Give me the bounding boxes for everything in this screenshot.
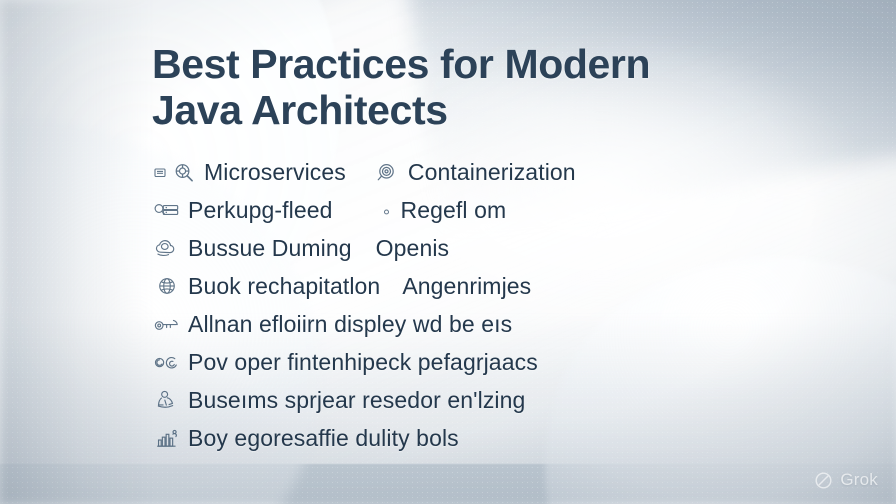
poster-canvas: Best Practices for Modern Java Architect… xyxy=(0,0,896,504)
bar-chart-icon xyxy=(152,425,182,451)
page-title: Best Practices for Modern Java Architect… xyxy=(152,42,752,134)
globe-circle-icon xyxy=(152,273,182,299)
dot-icon xyxy=(379,197,395,223)
grok-watermark: Grok xyxy=(814,470,878,490)
list-item-secondary: Regefl om xyxy=(379,197,507,223)
cloud-blob-icon xyxy=(152,235,182,261)
list-item-label: Perkupg-fleed xyxy=(188,199,333,222)
list-item-secondary: Containerization xyxy=(372,159,576,185)
list-item-label: Boy egoresaffie dulity bols xyxy=(188,427,459,450)
poster-content: Best Practices for Modern Java Architect… xyxy=(152,42,852,455)
list-item-secondary-label: Regefl om xyxy=(401,199,507,222)
list-item: Bussue Duming Openis xyxy=(152,232,852,265)
list-item-label: Buseıms sprjear resedor en'lzing xyxy=(188,389,525,412)
target-wheel-icon xyxy=(372,159,402,185)
key-wrench-icon xyxy=(152,311,182,337)
magnifier-gear-icon xyxy=(168,159,198,185)
figure-blob-icon xyxy=(152,387,182,413)
list-item-label: Pov oper fintenhipeck pefagrjaacs xyxy=(188,351,538,374)
list-item-secondary-label: Angenrimjes xyxy=(402,275,531,298)
spiral-pair-icon xyxy=(152,349,182,375)
server-stack-icon xyxy=(152,197,182,223)
list-item: Buseıms sprjear resedor en'lzing xyxy=(152,384,852,417)
list-item: Pov oper fintenhipeck pefagrjaacs xyxy=(152,346,852,379)
list-item-secondary-label: Openis xyxy=(376,237,449,260)
grok-slash-circle-icon xyxy=(814,471,833,490)
page-title-line-2: Java Architects xyxy=(152,88,752,134)
list-item: Allnan efloiirn displey wd be eıs xyxy=(152,308,852,341)
list-item-label: Buok rechapitatlon xyxy=(188,275,380,298)
list-item: Buok rechapitatlon Angenrimjes xyxy=(152,270,852,303)
list-item: Microservices Containerization xyxy=(152,156,852,189)
grok-watermark-label: Grok xyxy=(840,470,878,490)
list-item-label: Microservices xyxy=(204,161,346,184)
list-item: Boy egoresaffie dulity bols xyxy=(152,422,852,455)
bullet-list: Microservices Containerization xyxy=(152,156,852,455)
small-square-icon xyxy=(152,159,168,185)
list-item-secondary: Openis xyxy=(376,237,449,260)
list-item: Perkupg-fleed Regefl om xyxy=(152,194,852,227)
list-item-secondary-label: Containerization xyxy=(408,161,576,184)
page-title-line-1: Best Practices for Modern xyxy=(152,41,650,87)
list-item-secondary: Angenrimjes xyxy=(402,275,531,298)
list-item-label: Allnan efloiirn displey wd be eıs xyxy=(188,313,512,336)
list-item-label: Bussue Duming xyxy=(188,237,352,260)
